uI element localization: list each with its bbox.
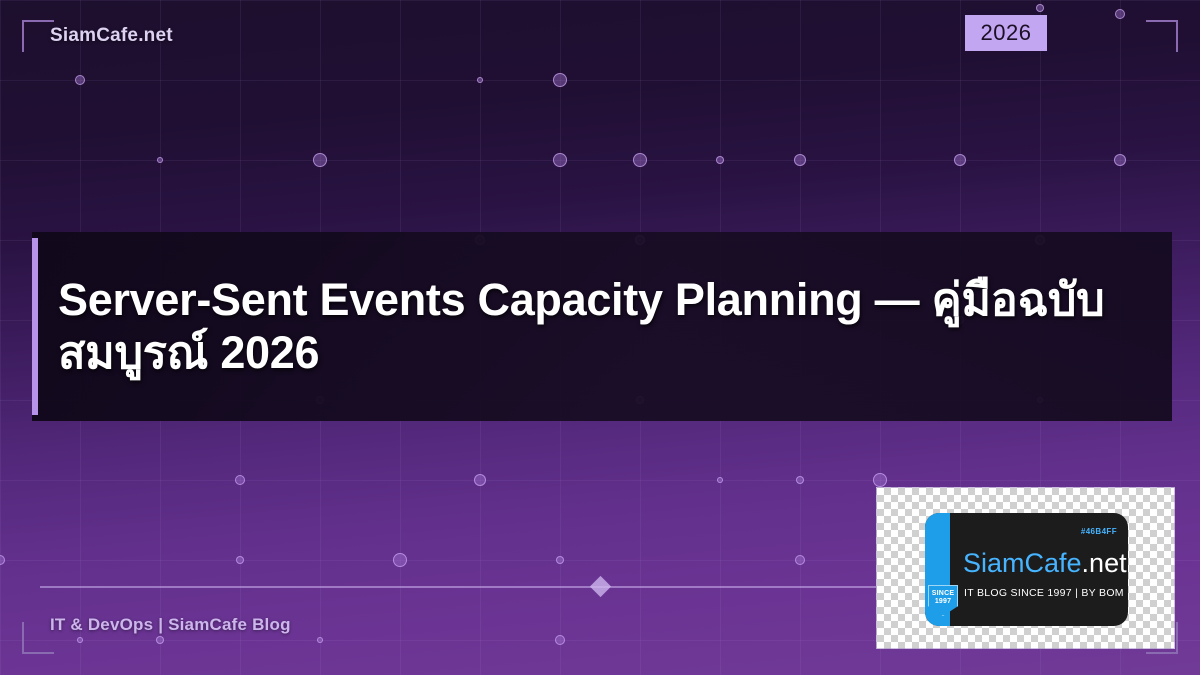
- decorative-dot: [317, 637, 323, 643]
- decorative-dot: [393, 553, 407, 567]
- logo-tagline: IT BLOG SINCE 1997 | BY BOM: [964, 587, 1124, 599]
- decorative-dot: [477, 77, 483, 83]
- logo-wordmark-primary: SiamCafe: [963, 548, 1082, 578]
- site-brand-label: SiamCafe.net: [50, 25, 173, 47]
- decorative-dot: [235, 475, 245, 485]
- bracket-line-horizontal: [22, 652, 54, 654]
- logo-card: SINCE 1997 #46B4FF SiamCafe.net IT BLOG …: [876, 487, 1175, 649]
- decorative-dot: [796, 476, 804, 484]
- logo-plate: SINCE 1997 #46B4FF SiamCafe.net IT BLOG …: [925, 513, 1128, 626]
- decorative-dot: [77, 637, 83, 643]
- decorative-dot: [553, 153, 567, 167]
- bracket-line-vertical: [22, 20, 24, 52]
- logo-wordmark-suffix: .net: [1082, 548, 1127, 578]
- decorative-dot: [75, 75, 85, 85]
- decorative-dot: [873, 473, 887, 487]
- divider-diamond-icon: [590, 576, 611, 597]
- page-title: Server-Sent Events Capacity Planning — ค…: [58, 274, 1148, 378]
- bracket-line-horizontal: [1146, 20, 1178, 22]
- title-accent-bar: [32, 238, 38, 415]
- bracket-line-vertical: [1176, 622, 1178, 654]
- since-badge-line2: 1997: [935, 598, 951, 606]
- decorative-dot: [1115, 9, 1125, 19]
- decorative-dot: [1114, 154, 1126, 166]
- logo-wordmark: SiamCafe.net: [963, 548, 1127, 579]
- banner-stage: SiamCafe.net 2026 Server-Sent Events Cap…: [0, 0, 1200, 675]
- decorative-dot: [236, 556, 244, 564]
- corner-bracket-top-right: [1146, 20, 1178, 52]
- decorative-dot: [553, 73, 567, 87]
- decorative-dot: [716, 156, 724, 164]
- since-badge-line1: SINCE: [932, 590, 954, 598]
- decorative-dot: [474, 474, 486, 486]
- bracket-line-vertical: [22, 622, 24, 654]
- decorative-dot: [954, 154, 966, 166]
- bracket-line-vertical: [1176, 20, 1178, 52]
- decorative-dot: [633, 153, 647, 167]
- footer-category-label: IT & DevOps | SiamCafe Blog: [50, 615, 291, 635]
- decorative-dot: [157, 157, 163, 163]
- bracket-line-horizontal: [1146, 652, 1178, 654]
- decorative-dot: [717, 477, 723, 483]
- decorative-dot: [794, 154, 806, 166]
- year-badge: 2026: [965, 15, 1047, 51]
- decorative-dot: [555, 635, 565, 645]
- decorative-dot: [556, 556, 564, 564]
- decorative-dot: [795, 555, 805, 565]
- decorative-dot: [313, 153, 327, 167]
- decorative-dot: [0, 555, 5, 565]
- bracket-line-horizontal: [22, 20, 54, 22]
- brand-hex-label: #46B4FF: [1081, 527, 1117, 536]
- decorative-dot: [1036, 4, 1044, 12]
- hero-title-band: Server-Sent Events Capacity Planning — ค…: [32, 232, 1172, 421]
- decorative-dot: [156, 636, 164, 644]
